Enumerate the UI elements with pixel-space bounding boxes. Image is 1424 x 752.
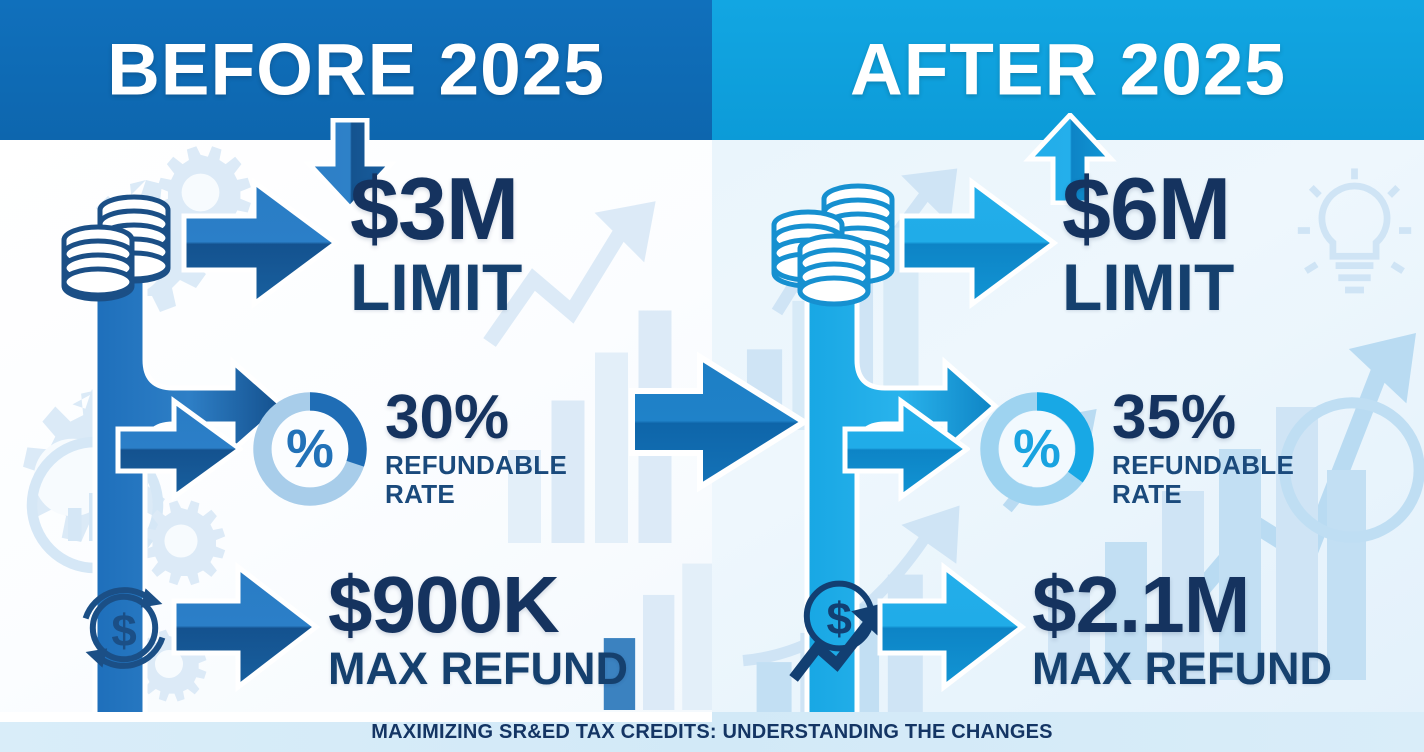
row-max-refund-before: $ $900K MA <box>64 555 628 705</box>
panel-after: $6M LIMIT <box>712 140 1424 712</box>
percent-donut-icon: % <box>976 388 1098 515</box>
arrow-right-icon <box>898 168 1058 323</box>
row-text-before-rate: 30% REFUNDABLE RATE <box>385 389 595 509</box>
row-expenditure-limit-after: $6M LIMIT <box>768 168 1234 323</box>
row-text-after-refund: $2.1M MAX REFUND <box>1032 567 1332 691</box>
label-expenditure-limit-after: LIMIT <box>1062 254 1234 320</box>
panel-before: $3M LIMIT <box>0 140 712 712</box>
row-text-after-limit: $6M LIMIT <box>1062 167 1234 319</box>
value-max-refund-before: $900K <box>328 567 628 644</box>
coin-stacks-icon <box>768 171 910 321</box>
arrow-right-icon <box>170 555 320 705</box>
arrow-right-icon <box>180 168 340 323</box>
row-refundable-rate-after: % 35% REFUNDABLE RATE <box>842 388 1322 515</box>
row-max-refund-after: $ <box>784 555 1332 705</box>
row-expenditure-limit-before: $3M LIMIT <box>56 168 522 323</box>
header-after-title: AFTER 2025 <box>712 34 1424 107</box>
arrow-right-icon <box>876 555 1026 705</box>
arrow-right-icon <box>115 389 243 514</box>
label-expenditure-limit-before: LIMIT <box>350 254 522 320</box>
value-refundable-rate-after: 35% <box>1112 389 1322 448</box>
arrow-right-icon <box>842 389 970 514</box>
svg-text:%: % <box>1013 419 1061 479</box>
coin-stacks-icon <box>56 178 184 313</box>
percent-donut-icon: % <box>249 388 371 515</box>
label-max-refund-after: MAX REFUND <box>1032 646 1332 691</box>
row-text-before-limit: $3M LIMIT <box>350 167 522 319</box>
svg-text:$: $ <box>111 604 136 655</box>
center-transition-arrow-right-icon <box>628 347 808 502</box>
row-text-before-refund: $900K MAX REFUND <box>328 567 628 691</box>
value-expenditure-limit-before: $3M <box>350 167 522 251</box>
header-before-title: BEFORE 2025 <box>0 34 712 107</box>
value-refundable-rate-before: 30% <box>385 389 595 448</box>
row-refundable-rate-before: % 30% REFUNDABLE RATE <box>115 388 595 515</box>
svg-text:$: $ <box>827 592 852 643</box>
label-refundable-rate-before: REFUNDABLE RATE <box>385 451 595 509</box>
svg-text:%: % <box>286 419 334 479</box>
value-expenditure-limit-after: $6M <box>1062 167 1234 251</box>
label-refundable-rate-after: REFUNDABLE RATE <box>1112 451 1322 509</box>
infographic-root: BEFORE 2025 AFTER 2025 <box>0 0 1424 752</box>
lightbulb-icon <box>1287 165 1422 315</box>
footer-caption: MAXIMIZING SR&ED TAX CREDITS: UNDERSTAND… <box>371 721 1052 744</box>
money-refresh-icon: $ <box>64 568 184 693</box>
label-max-refund-before: MAX REFUND <box>328 646 628 691</box>
value-max-refund-after: $2.1M <box>1032 567 1332 644</box>
footer-spacer <box>0 712 712 722</box>
row-text-after-rate: 35% REFUNDABLE RATE <box>1112 389 1322 509</box>
